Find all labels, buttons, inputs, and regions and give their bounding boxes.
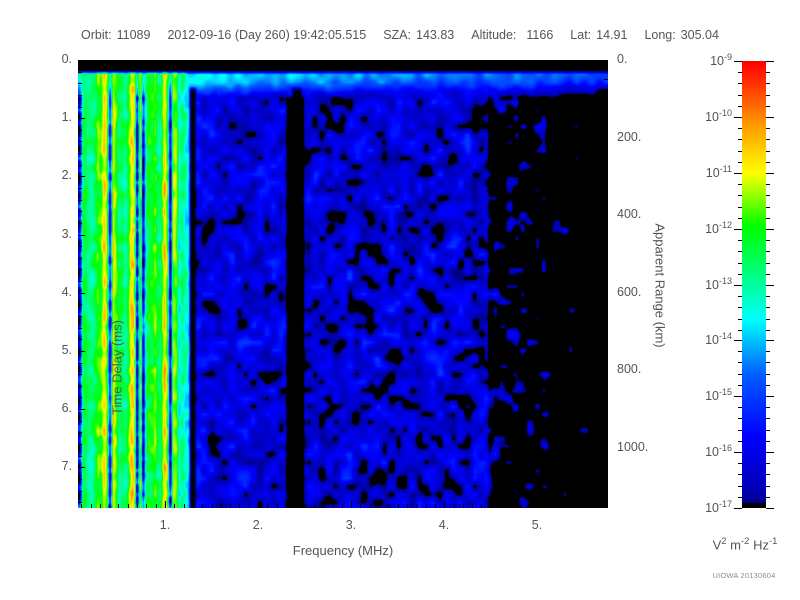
colorbar-tick-minor-left (738, 128, 742, 129)
colorbar-tick-minor-right (766, 330, 770, 331)
colorbar-tick-minor-left (738, 374, 742, 375)
ytick-left-minor (78, 374, 82, 375)
ytick-left-major-6 (78, 409, 85, 410)
xtick-top-major-4 (537, 60, 538, 67)
header-lat-value: 14.91 (596, 28, 627, 42)
header-sza-value: 143.83 (416, 28, 454, 42)
xtick-bottom-minor (342, 504, 343, 508)
colorbar-tick-minor-left (738, 274, 742, 275)
colorbar-tick-major-left-7 (734, 452, 742, 453)
xtick-bottom-minor (314, 504, 315, 508)
xtick-bottom-minor (81, 504, 82, 508)
colorbar-label-exponent: -10 (719, 108, 732, 118)
colorbar-tick-minor-right (766, 486, 770, 487)
ytick-right-minor (604, 332, 608, 333)
colorbar-label-exponent: -17 (719, 499, 732, 509)
colorbar-tick-major-left-6 (734, 396, 742, 397)
colorbar-tick-major-right-3 (766, 229, 774, 230)
units-hz: Hz (749, 537, 769, 552)
header-datetime: 2012-09-16 (Day 260) 19:42:05.515 (167, 28, 366, 42)
xtick-bottom-minor (519, 504, 520, 508)
colorbar-tick-minor-left (738, 151, 742, 152)
colorbar-tick-minor-right (766, 240, 770, 241)
xtick-bottom-minor (193, 504, 194, 508)
xtick-label-2: 3. (329, 518, 373, 532)
xtick-bottom-minor (500, 504, 501, 508)
colorbar-tick-major-right-8 (766, 508, 774, 509)
ytick-right-minor (604, 235, 608, 236)
colorbar-tick-label-7: 10-16 (668, 443, 732, 459)
ytick-left-label-3: 3. (30, 227, 72, 241)
colorbar-tick-major-left-5 (734, 340, 742, 341)
colorbar-label-mantissa: 10 (706, 166, 720, 180)
xtick-bottom-minor (509, 504, 510, 508)
ytick-left-minor (78, 107, 82, 108)
colorbar (742, 61, 766, 508)
ytick-right-minor (604, 487, 608, 488)
xtick-bottom-minor (239, 504, 240, 508)
ytick-left-major-0 (78, 60, 85, 61)
xtick-bottom-minor (528, 504, 529, 508)
xtick-bottom-minor (370, 504, 371, 508)
ytick-left-minor (78, 502, 82, 503)
ytick-left-label-7: 7. (30, 459, 72, 473)
colorbar-label-mantissa: 10 (705, 389, 719, 403)
ionogram-plot-area (78, 60, 608, 508)
header-datetime-value: 2012-09-16 (Day 260) 19:42:05.515 (167, 28, 366, 42)
header-sza: SZA:143.83 (383, 28, 454, 42)
ytick-left-minor (78, 153, 82, 154)
colorbar-tick-minor-left (738, 139, 742, 140)
colorbar-tick-minor-left (738, 218, 742, 219)
colorbar-tick-minor-right (766, 497, 770, 498)
colorbar-tick-minor-left (738, 72, 742, 73)
ytick-right-minor (604, 409, 608, 410)
ytick-left-minor (78, 141, 82, 142)
xtick-bottom-minor (221, 504, 222, 508)
xtick-top-major-2 (351, 60, 352, 67)
colorbar-tick-minor-right (766, 151, 770, 152)
ytick-left-major-2 (78, 176, 85, 177)
colorbar-tick-minor-right (766, 418, 770, 419)
colorbar-label-mantissa: 10 (705, 222, 719, 236)
colorbar-tick-major-right-4 (766, 285, 774, 286)
xtick-label-0: 1. (143, 518, 187, 532)
ytick-right-major-0 (601, 60, 608, 61)
colorbar-tick-label-6: 10-15 (668, 387, 732, 403)
colorbar-tick-minor-right (766, 296, 770, 297)
xtick-bottom-minor (491, 504, 492, 508)
ytick-left-major-3 (78, 235, 85, 236)
colorbar-label-exponent: -12 (719, 220, 732, 230)
ytick-right-minor (604, 254, 608, 255)
ytick-left-major-4 (78, 293, 85, 294)
colorbar-tick-minor-left (738, 330, 742, 331)
spectrogram-heatmap (78, 60, 608, 508)
xtick-bottom-minor (435, 504, 436, 508)
colorbar-tick-minor-left (738, 385, 742, 386)
colorbar-tick-minor-left (738, 463, 742, 464)
colorbar-tick-minor-left (738, 184, 742, 185)
x-axis-title: Frequency (MHz) (78, 543, 608, 558)
xtick-label-4: 5. (515, 518, 559, 532)
xtick-bottom-minor (416, 504, 417, 508)
ytick-left-label-1: 1. (30, 110, 72, 124)
ytick-left-minor (78, 444, 82, 445)
units-hz-exponent: -1 (769, 536, 777, 547)
ytick-left-minor (78, 223, 82, 224)
header-orbit-label: Orbit: (81, 28, 112, 42)
xtick-top-major-0 (165, 60, 166, 67)
ytick-left-minor (78, 165, 82, 166)
colorbar-tick-major-left-0 (734, 61, 742, 62)
ytick-left-minor (78, 211, 82, 212)
colorbar-tick-major-left-3 (734, 229, 742, 230)
units-m: m (727, 537, 741, 552)
colorbar-tick-minor-left (738, 263, 742, 264)
colorbar-tick-major-right-1 (766, 117, 774, 118)
colorbar-tick-label-4: 10-13 (668, 276, 732, 292)
xtick-bottom-major-2 (351, 501, 352, 508)
xtick-bottom-minor (137, 504, 138, 508)
header-orbit-value: 11089 (117, 28, 151, 42)
ytick-left-minor (78, 130, 82, 131)
xtick-label-1: 2. (236, 518, 280, 532)
colorbar-gradient (742, 61, 766, 508)
ytick-left-minor (78, 397, 82, 398)
ytick-left-minor (78, 328, 82, 329)
xtick-bottom-minor (360, 504, 361, 508)
xtick-bottom-minor (388, 504, 389, 508)
xtick-bottom-minor (202, 504, 203, 508)
xtick-bottom-minor (146, 504, 147, 508)
colorbar-tick-minor-left (738, 251, 742, 252)
colorbar-tick-major-left-1 (734, 117, 742, 118)
colorbar-tick-minor-left (738, 307, 742, 308)
colorbar-tick-label-8: 10-17 (668, 499, 732, 515)
colorbar-tick-label-0: 10-9 (668, 52, 732, 68)
colorbar-tick-minor-left (738, 407, 742, 408)
credit-text: UIOWA 20130604 (690, 571, 798, 580)
header-lat: Lat:14.91 (570, 28, 627, 42)
xtick-bottom-minor (379, 504, 380, 508)
colorbar-tick-minor-right (766, 319, 770, 320)
colorbar-tick-minor-right (766, 95, 770, 96)
ytick-left-minor (78, 83, 82, 84)
colorbar-tick-minor-right (766, 385, 770, 386)
xtick-bottom-minor (277, 504, 278, 508)
xtick-bottom-major-0 (165, 501, 166, 508)
ytick-right-minor (604, 118, 608, 119)
header-altitude-label: Altitude: (471, 28, 516, 42)
xtick-bottom-minor (426, 504, 427, 508)
colorbar-tick-minor-right (766, 83, 770, 84)
colorbar-label-exponent: -11 (720, 164, 732, 174)
colorbar-tick-minor-right (766, 351, 770, 352)
colorbar-tick-minor-right (766, 430, 770, 431)
ytick-right-minor (604, 506, 608, 507)
colorbar-tick-minor-right (766, 263, 770, 264)
colorbar-tick-minor-right (766, 106, 770, 107)
ytick-left-major-5 (78, 351, 85, 352)
header-sza-label: SZA: (383, 28, 411, 42)
colorbar-tick-minor-left (738, 351, 742, 352)
xtick-bottom-minor (305, 504, 306, 508)
colorbar-tick-major-left-4 (734, 285, 742, 286)
xtick-bottom-minor (174, 504, 175, 508)
xtick-bottom-minor (184, 504, 185, 508)
ytick-right-major-5 (601, 448, 608, 449)
xtick-bottom-minor (398, 504, 399, 508)
colorbar-tick-minor-right (766, 463, 770, 464)
colorbar-tick-minor-right (766, 72, 770, 73)
ytick-left-label-0: 0. (30, 52, 72, 66)
xtick-bottom-minor (454, 504, 455, 508)
colorbar-tick-minor-right (766, 362, 770, 363)
colorbar-tick-minor-right (766, 407, 770, 408)
ytick-right-label-1: 200. (617, 130, 677, 144)
y-right-axis-title: Apparent Range (km) (653, 196, 668, 376)
ytick-left-label-5: 5. (30, 343, 72, 357)
colorbar-tick-minor-right (766, 128, 770, 129)
ytick-left-minor (78, 363, 82, 364)
xtick-bottom-major-3 (444, 501, 445, 508)
ytick-left-major-1 (78, 118, 85, 119)
ytick-right-minor (604, 428, 608, 429)
ytick-right-minor (604, 273, 608, 274)
ytick-left-minor (78, 246, 82, 247)
ytick-left-minor (78, 432, 82, 433)
ytick-left-minor (78, 200, 82, 201)
y-axis-title: Time Delay (ms) (110, 263, 125, 473)
colorbar-tick-minor-left (738, 296, 742, 297)
colorbar-label-exponent: -9 (724, 52, 732, 62)
colorbar-tick-minor-left (738, 240, 742, 241)
xtick-bottom-minor (100, 504, 101, 508)
xtick-bottom-minor (156, 504, 157, 508)
colorbar-tick-major-right-2 (766, 173, 774, 174)
ytick-left-minor (78, 456, 82, 457)
header-lat-label: Lat: (570, 28, 591, 42)
colorbar-tick-minor-left (738, 106, 742, 107)
xtick-bottom-major-1 (258, 501, 259, 508)
colorbar-tick-minor-left (738, 95, 742, 96)
ytick-left-label-6: 6. (30, 401, 72, 415)
colorbar-tick-minor-left (738, 430, 742, 431)
ytick-left-label-2: 2. (30, 168, 72, 182)
ytick-right-major-1 (601, 138, 608, 139)
ytick-left-minor (78, 479, 82, 480)
colorbar-label-mantissa: 10 (710, 54, 724, 68)
colorbar-label-mantissa: 10 (705, 445, 719, 459)
xtick-top-major-3 (444, 60, 445, 67)
ytick-left-minor (78, 304, 82, 305)
xtick-bottom-minor (323, 504, 324, 508)
colorbar-tick-minor-left (738, 319, 742, 320)
ytick-left-minor (78, 281, 82, 282)
ytick-right-minor (604, 351, 608, 352)
xtick-bottom-minor (212, 504, 213, 508)
xtick-label-3: 4. (422, 518, 466, 532)
colorbar-tick-minor-left (738, 195, 742, 196)
colorbar-tick-minor-left (738, 362, 742, 363)
ytick-right-minor (604, 390, 608, 391)
colorbar-tick-minor-right (766, 162, 770, 163)
colorbar-tick-minor-left (738, 497, 742, 498)
xtick-bottom-minor (472, 504, 473, 508)
xtick-bottom-minor (463, 504, 464, 508)
xtick-bottom-minor (249, 504, 250, 508)
colorbar-tick-minor-right (766, 307, 770, 308)
xtick-bottom-minor (481, 504, 482, 508)
colorbar-tick-minor-left (738, 418, 742, 419)
colorbar-tick-minor-left (738, 207, 742, 208)
ytick-left-label-4: 4. (30, 285, 72, 299)
colorbar-tick-minor-right (766, 441, 770, 442)
y-axis-title-wrapper: Time Delay (ms) (14, 180, 34, 390)
colorbar-tick-minor-left (738, 474, 742, 475)
ytick-right-minor (604, 99, 608, 100)
colorbar-tick-minor-right (766, 374, 770, 375)
xtick-bottom-minor (128, 504, 129, 508)
colorbar-tick-major-left-8 (734, 508, 742, 509)
header-altitude: Altitude:1166 (471, 28, 553, 42)
colorbar-label-exponent: -13 (719, 276, 732, 286)
colorbar-tick-minor-right (766, 274, 770, 275)
colorbar-tick-minor-right (766, 474, 770, 475)
colorbar-label-exponent: -16 (719, 443, 732, 453)
xtick-bottom-minor (91, 504, 92, 508)
colorbar-tick-label-1: 10-10 (668, 108, 732, 124)
xtick-bottom-minor (230, 504, 231, 508)
colorbar-tick-minor-right (766, 218, 770, 219)
xtick-bottom-minor (295, 504, 296, 508)
ytick-left-minor (78, 491, 82, 492)
ytick-left-minor (78, 258, 82, 259)
colorbar-tick-major-right-5 (766, 340, 774, 341)
xtick-bottom-minor (109, 504, 110, 508)
colorbar-tick-label-2: 10-11 (668, 164, 732, 180)
colorbar-label-mantissa: 10 (705, 501, 719, 515)
colorbar-tick-minor-right (766, 139, 770, 140)
colorbar-label-exponent: -14 (719, 331, 732, 341)
ytick-left-minor (78, 339, 82, 340)
ytick-right-minor (604, 79, 608, 80)
xtick-bottom-minor (267, 504, 268, 508)
ytick-right-minor (604, 157, 608, 158)
colorbar-tick-label-5: 10-14 (668, 331, 732, 347)
ytick-right-minor (604, 467, 608, 468)
ytick-right-major-4 (601, 370, 608, 371)
header-long-value: 305.04 (681, 28, 719, 42)
header-long-label: Long: (644, 28, 675, 42)
ytick-right-minor (604, 196, 608, 197)
header-long: Long:305.04 (644, 28, 719, 42)
colorbar-tick-minor-right (766, 195, 770, 196)
colorbar-tick-minor-left (738, 162, 742, 163)
xtick-bottom-minor (333, 504, 334, 508)
colorbar-tick-major-right-7 (766, 452, 774, 453)
header-orbit: Orbit:11089 (81, 28, 150, 42)
colorbar-label-mantissa: 10 (705, 110, 719, 124)
ytick-right-minor (604, 312, 608, 313)
colorbar-tick-major-left-2 (734, 173, 742, 174)
ytick-left-minor (78, 188, 82, 189)
units-v: V (713, 537, 722, 552)
ytick-left-minor (78, 386, 82, 387)
ytick-right-minor (604, 176, 608, 177)
ytick-left-minor (78, 72, 82, 73)
colorbar-units-label: V2 m-2 Hz-1 (690, 536, 800, 552)
colorbar-tick-minor-right (766, 207, 770, 208)
colorbar-label-mantissa: 10 (705, 333, 719, 347)
colorbar-label-exponent: -15 (719, 387, 732, 397)
y-right-axis-title-wrapper: Apparent Range (km) (650, 195, 670, 375)
colorbar-tick-major-right-0 (766, 61, 774, 62)
colorbar-tick-major-right-6 (766, 396, 774, 397)
xtick-bottom-minor (407, 504, 408, 508)
xtick-bottom-minor (286, 504, 287, 508)
colorbar-tick-minor-left (738, 486, 742, 487)
ytick-left-minor (78, 95, 82, 96)
ytick-left-major-7 (78, 467, 85, 468)
ytick-left-minor (78, 269, 82, 270)
colorbar-tick-minor-left (738, 441, 742, 442)
ytick-right-major-3 (601, 293, 608, 294)
colorbar-label-mantissa: 10 (705, 278, 719, 292)
ytick-left-minor (78, 421, 82, 422)
colorbar-tick-label-3: 10-12 (668, 220, 732, 236)
colorbar-tick-minor-right (766, 251, 770, 252)
colorbar-tick-minor-right (766, 184, 770, 185)
xtick-top-major-1 (258, 60, 259, 67)
ytick-right-major-2 (601, 215, 608, 216)
colorbar-tick-minor-left (738, 83, 742, 84)
header-info-bar: Orbit:110892012-09-16 (Day 260) 19:42:05… (0, 28, 800, 44)
header-altitude-value: 1166 (526, 28, 553, 42)
xtick-bottom-minor (118, 504, 119, 508)
ytick-left-minor (78, 316, 82, 317)
xtick-bottom-major-4 (537, 501, 538, 508)
